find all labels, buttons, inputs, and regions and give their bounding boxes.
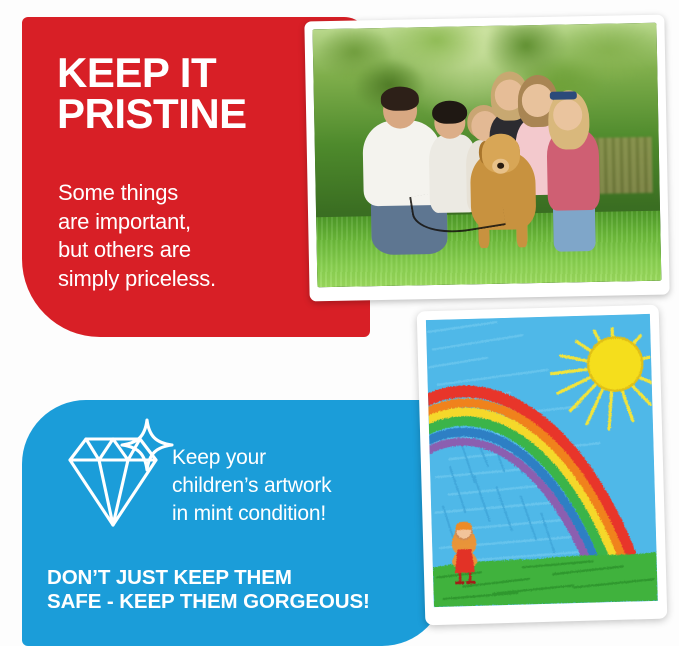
blue-copy-line-1: Keep your <box>172 444 418 472</box>
diamond-sparkle-icon <box>52 412 180 540</box>
headline-line-1: KEEP IT <box>57 49 216 96</box>
childrens-artwork-image <box>426 314 658 607</box>
poster-canvas: KEEP IT PRISTINE Some things are importa… <box>0 0 679 646</box>
subhead-line-2: are important, <box>58 208 348 237</box>
family-photo-card <box>304 15 669 302</box>
childrens-artwork-card <box>417 305 668 626</box>
family-photo-image <box>312 23 661 288</box>
blue-copy-line-3: in mint condition! <box>172 500 418 528</box>
subhead-line-4: simply priceless. <box>58 265 348 294</box>
call-to-action-text: DON’T JUST KEEP THEM SAFE - KEEP THEM GO… <box>47 566 427 614</box>
subhead-line-3: but others are <box>58 236 348 265</box>
headline-line-2: PRISTINE <box>57 93 347 134</box>
red-subheading: Some things are important, but others ar… <box>58 179 348 293</box>
blue-panel-copy: Keep your children’s artwork in mint con… <box>172 444 418 528</box>
cta-line-1: DON’T JUST KEEP THEM <box>47 566 427 590</box>
cta-line-2: SAFE - KEEP THEM GORGEOUS! <box>47 590 427 614</box>
page-title: KEEP IT PRISTINE <box>57 52 347 134</box>
subhead-line-1: Some things <box>58 179 348 208</box>
blue-copy-line-2: children’s artwork <box>172 472 418 500</box>
